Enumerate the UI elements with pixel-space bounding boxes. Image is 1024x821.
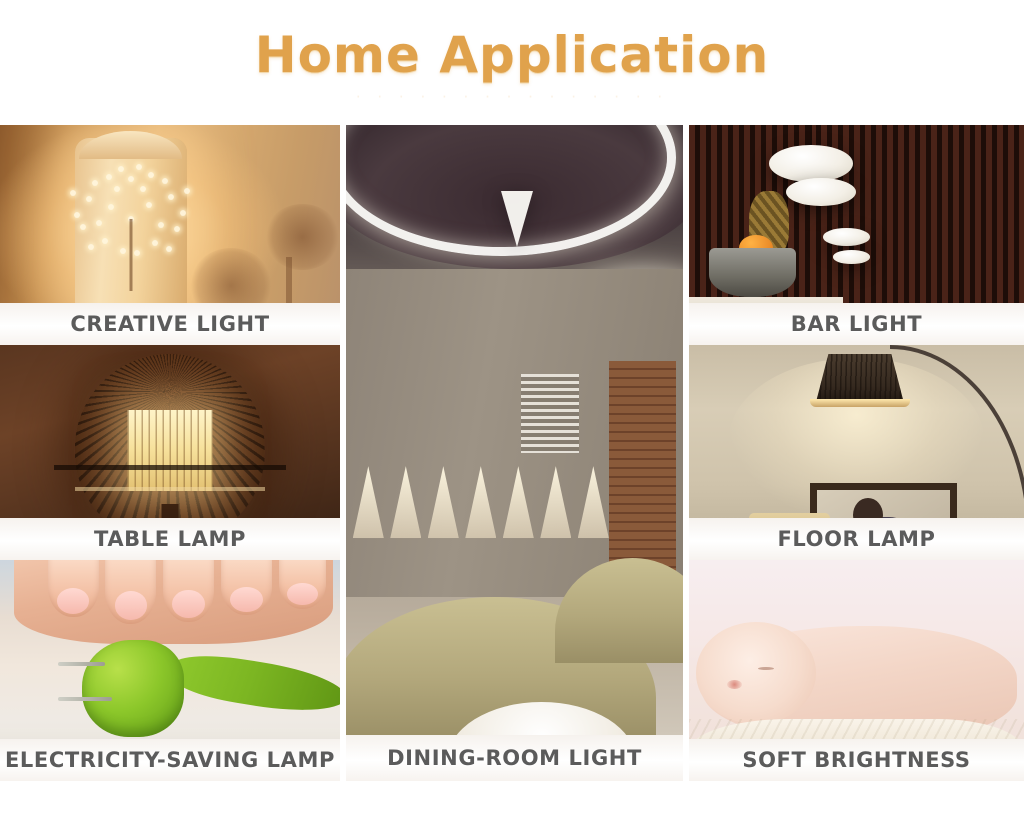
caption-soft-brightness: SOFT BRIGHTNESS [689,739,1024,781]
finger [163,560,214,622]
lamp-warm-core [128,410,213,492]
rattan-band-upper [54,465,285,470]
finger [105,560,156,624]
plug-prong-upper [58,662,106,666]
finger [221,560,272,615]
green-mossy-cable [168,648,340,719]
wall-uplight-row [353,466,609,538]
wall-uplight [465,466,496,538]
baby-mouth [727,680,741,689]
finger [279,560,327,609]
collage-cell-table-lamp[interactable]: TABLE LAMP [0,345,340,560]
lamp-shade [816,354,903,401]
wall-uplight [578,466,609,538]
wall-uplight [428,466,459,538]
collage-cell-floor-lamp[interactable]: FLOOR LAMP [689,345,1024,560]
plant-shadow-right [265,204,340,270]
caption-creative-light: CREATIVE LIGHT [0,303,340,345]
caption-floor-lamp: FLOOR LAMP [689,518,1024,560]
baby-eye [758,667,774,670]
wall-uplight [390,466,421,538]
caption-dining-room-light: DINING-ROOM LIGHT [346,735,683,781]
bar-pendant-mid [786,178,856,207]
collage-cell-creative-light[interactable]: CREATIVE LIGHT [0,125,340,345]
page-title: Home Application [255,26,770,84]
cone-pendant-main [501,191,533,247]
metal-bowl [709,248,796,296]
finger [48,560,99,617]
bar-pendant-large [769,145,853,182]
wall-uplight [353,466,384,538]
collage-cell-electricity-saving-lamp[interactable]: ELECTRICITY-SAVING LAMP [0,560,340,781]
wall-vent-grille [521,374,578,453]
collage-cell-soft-brightness[interactable]: SOFT BRIGHTNESS [689,560,1024,781]
footer-whitespace [0,781,1024,821]
plug-prong-lower [58,697,112,701]
caption-bar-light: BAR LIGHT [689,303,1024,345]
green-mossy-plug [82,640,184,737]
dandelion-stem [129,219,132,291]
caption-table-lamp: TABLE LAMP [0,518,340,560]
bar-pendant-tiny [833,250,870,263]
bar-pendant-small [823,228,870,246]
home-application-page: Home Application · · · · · · · · · · · ·… [0,0,1024,821]
caption-electricity-saving-lamp: ELECTRICITY-SAVING LAMP [0,739,340,781]
application-collage: CREATIVE LIGHT LIVING-ROOM LIGHT [0,125,1024,781]
page-subtitle: · · · · · · · · · · · · · · · [356,88,668,106]
wall-uplight [540,466,571,538]
collage-cell-bar-light[interactable]: BAR LIGHT [689,125,1024,345]
header: Home Application · · · · · · · · · · · ·… [0,0,1024,125]
photo-dining-room-light [346,125,683,781]
wall-uplight [503,466,534,538]
wall-sconce-shape [75,138,187,310]
collage-cell-dining-room-light[interactable]: DINING-ROOM LIGHT [346,125,683,781]
rattan-band-lower [75,487,265,491]
baby-head [696,622,817,724]
lamp-shade-glow-lip [810,399,911,408]
